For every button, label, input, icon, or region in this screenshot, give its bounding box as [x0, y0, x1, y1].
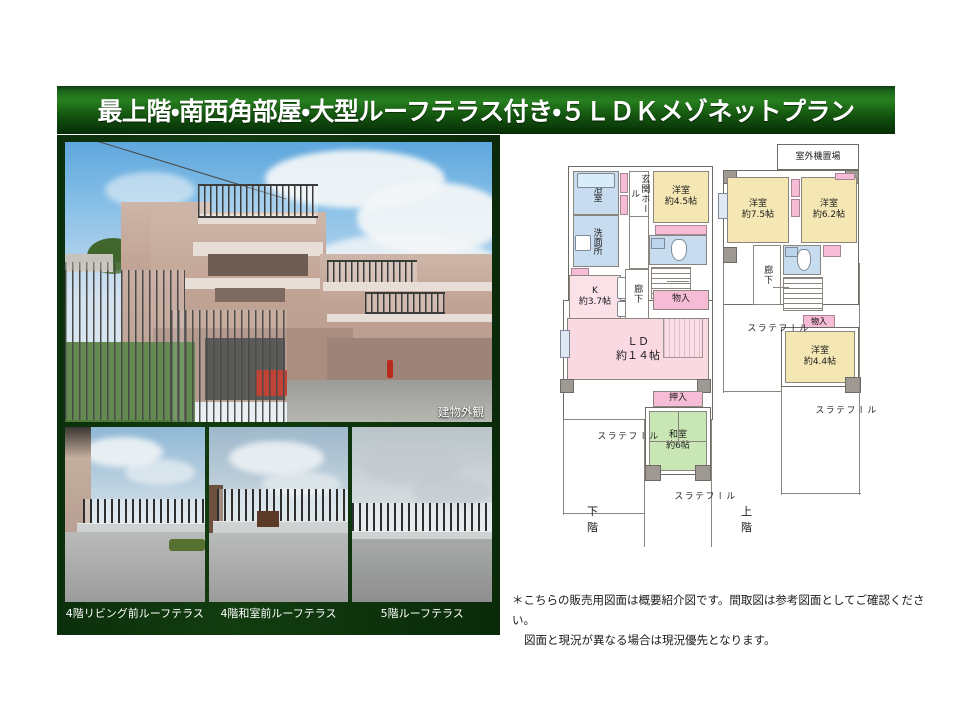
tatami-line: [678, 411, 679, 441]
toilet-icon: [797, 249, 811, 271]
cloud: [125, 459, 195, 485]
red-post: [387, 360, 393, 378]
toilet-icon: [671, 239, 687, 261]
photo-caption-main: 建物外観: [438, 404, 484, 420]
pillar: [560, 379, 574, 393]
room-oshiire: 押入: [653, 391, 703, 407]
railing: [83, 499, 205, 525]
bathtub-icon: [577, 173, 615, 188]
photo-terrace-washitsu-4f: [209, 427, 349, 602]
planter-box: [257, 511, 279, 527]
terrace-edge: [563, 419, 645, 420]
terrace-edge: [723, 391, 781, 392]
ld-stair-void: [663, 318, 703, 358]
closet-icon: [791, 179, 800, 197]
window-icon: [718, 193, 728, 219]
label-roof-terrace-upper-left: ルーフテラス: [745, 323, 807, 333]
washbasin-icon: [785, 247, 798, 257]
disclaimer-line-1: ＊こちらの販売用図面は概要紹介図です。間取図は参考図面としてご確認ください。: [512, 593, 925, 627]
stair-direction-arrow: [667, 281, 689, 282]
room-western-6-2: 洋室 約6.2帖: [801, 177, 857, 243]
window-band: [215, 288, 285, 302]
roof-edge: [323, 282, 492, 291]
sink-icon: [575, 235, 591, 251]
photo-terrace-living-4f: [65, 427, 205, 602]
room-closet-monoire: 物入: [653, 290, 709, 310]
window-icon: [560, 330, 570, 358]
label-roof-terrace-center: ルーフテラス: [672, 491, 734, 501]
pillar: [723, 247, 737, 263]
room-kitchen: K 約3.7帖: [569, 275, 621, 319]
stair-direction-arrow: [773, 287, 789, 288]
closet-icon: [655, 225, 707, 235]
foreground-fence: [65, 270, 185, 420]
floor-tag-lower: 下階: [587, 503, 598, 535]
window-band: [208, 254, 308, 276]
staircase-upper: [783, 277, 823, 311]
room-corridor: 廊下: [625, 269, 649, 319]
closet-icon: [835, 173, 855, 180]
balcony-railing: [365, 292, 445, 314]
floorplan-diagram: 浴室 洗面所 K 約3.7帖 玄関ホール 廊下: [505, 135, 950, 565]
railing: [217, 489, 349, 523]
gate-fence: [171, 310, 287, 422]
room-entrance: 玄関ホール: [629, 171, 649, 217]
room-western-4-5: 洋室 約4.5帖: [653, 171, 709, 223]
terrace-edge: [781, 493, 861, 494]
closet-icon: [823, 245, 841, 257]
listing-page: 最上階・南西角部屋・大型ルーフテラス付き・５ＬＤＫメゾネットプラン: [0, 0, 960, 720]
title-banner: 最上階・南西角部屋・大型ルーフテラス付き・５ＬＤＫメゾネットプラン: [57, 86, 895, 134]
cloud: [229, 441, 324, 475]
planter: [169, 539, 205, 551]
tatami-line: [649, 441, 707, 442]
photo-terrace-5f: [352, 427, 492, 602]
terrace-edge: [781, 387, 782, 495]
shoebox-icon: [620, 195, 628, 215]
floor-tag-upper: 上階: [741, 503, 752, 535]
terrace-edge: [644, 481, 645, 547]
photo-caption-3: 5階ルーフテラス: [352, 605, 492, 627]
room-corridor-upper: 廊下: [753, 245, 781, 305]
terrace-edge: [711, 419, 712, 547]
pillar: [645, 465, 661, 481]
roof-edge: [327, 314, 492, 322]
closet-icon: [791, 199, 800, 217]
disclaimer-line-2: 図面と現況が異なる場合は現況優先となります。: [512, 630, 942, 650]
page-title: 最上階・南西角部屋・大型ルーフテラス付き・５ＬＤＫメゾネットプラン: [97, 92, 854, 128]
label-outdoor-unit: 室外機置場: [779, 152, 857, 163]
rooftop-railing: [198, 184, 318, 218]
room-hall: [629, 217, 649, 269]
room-western-7-5: 洋室 約7.5帖: [727, 177, 789, 243]
terrace-edge: [563, 419, 564, 515]
photo-caption-2: 4階和室前ルーフテラス: [209, 605, 349, 627]
terrace-edge: [563, 513, 645, 514]
terrace-floor: [352, 539, 492, 602]
photo-block: 建物外観: [57, 135, 500, 635]
shoebox-icon: [620, 173, 628, 193]
terrace-floor: [209, 533, 349, 602]
room-western-4-4: 洋室 約4.4帖: [785, 331, 855, 383]
label-roof-terrace-left: ルーフテラス: [595, 431, 657, 441]
pillar: [695, 465, 711, 481]
label-roof-terrace-upper-right: ルーフテラス: [813, 405, 875, 415]
terrace-edge: [859, 263, 860, 495]
washbasin-icon: [651, 238, 665, 249]
disclaimer: ＊こちらの販売用図面は概要紹介図です。間取図は参考図面としてご確認ください。 図…: [512, 590, 942, 650]
photo-caption-1: 4階リビング前ルーフテラス: [65, 605, 205, 627]
thumbnail-row: [65, 427, 492, 602]
photo-building-exterior: 建物外観: [65, 142, 492, 422]
thumbnail-caption-row: 4階リビング前ルーフテラス 4階和室前ルーフテラス 5階ルーフテラス: [65, 605, 492, 627]
terrace-edge: [723, 263, 724, 393]
